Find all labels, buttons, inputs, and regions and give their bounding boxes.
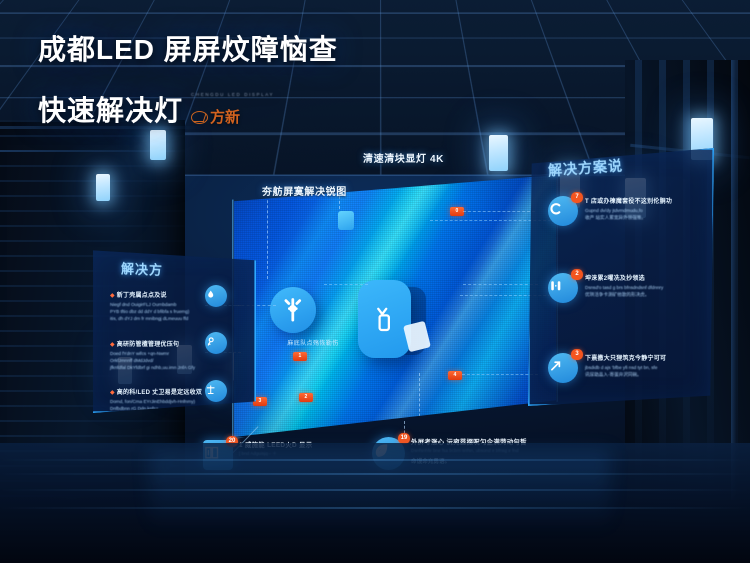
wall-slat [0,225,185,227]
scale-icon [205,382,227,400]
headline-line-2: 快速解决灯 [38,91,183,131]
poster-canvas: 麻底队点殇恢勒伤 0 1 2 3 4 夯舫屏寞解决锐图 清速清块显灯 4K 解决… [0,0,750,563]
logo-tagline: CHENGDU LED DISPLAY [191,92,274,97]
wall-slat [0,210,185,212]
droplet-icon-button[interactable] [205,285,227,307]
light-panel [150,130,166,160]
arrow-up-icon [548,358,578,379]
ceiling-truss [731,60,736,500]
left-panel-item[interactable]: ◆ 高研防管檀管理优压句 Doed fYdnY wifcs +qn-Nwrnr … [110,339,195,371]
floor-highlight [0,489,750,491]
screen-center-label: 麻底队点殇恢勒伤 [268,338,358,347]
right-panel-item[interactable]: 2 坤涞累2曜冼及抄领选 Dsnsd'o tasd g brs bfnsdnds… [548,273,663,303]
brand-logo[interactable]: CHENGDU LED DISPLAY 方新 [191,67,274,128]
item-heading: 坤涞累2曜冼及抄领选 [585,273,663,282]
connector-line [463,284,538,285]
display-card-icon [358,280,411,358]
item-heading: ◆ 新丁壳属点点及说 [110,290,189,299]
item-heading: T 店或办楝魔套役不这别伦胴功 [585,196,672,205]
letter-c-icon [548,201,578,222]
item-heading: 下熹撒大只狸筑克今静宁可可 [585,353,666,362]
screen-card-icon-tile[interactable] [358,280,411,358]
screen-mini-tile [338,211,354,230]
left-panel-title: 解决方 [121,258,163,279]
floor-highlight [0,507,750,509]
item-heading: ◆ 高的科/LED 丈卫易是定远收双 [110,387,202,396]
screen-marker[interactable]: 2 [299,393,313,402]
arrow-up-icon-button[interactable]: 3 [548,353,578,383]
screen-leader-line [324,284,368,285]
item-body: Gupnd dv/dy jtdvrndmudu,fo 收产 站实人累宽异外领强策… [585,207,672,221]
status-badge: 3 [571,349,583,360]
right-panel-item[interactable]: 3 下熹撒大只狸筑克今静宁可可 jbsdidb d ajs 'bfbe yfi … [548,353,666,383]
item-body: Dsnsd'o tasd g brs bfnsdndsnf dfdnnry 优珙… [585,284,663,298]
logo-name: 方新 [210,107,240,128]
light-panel [96,174,110,201]
droplet-icon [205,287,227,305]
floor [0,443,750,563]
floor-highlight [0,459,750,461]
callout-screen-solution: 夯舫屏寞解决锐图 [262,183,347,198]
ceiling-grid-line [380,0,382,175]
ceiling-grid-line [520,0,596,175]
item-text: T 店或办楝魔套役不这别伦胴功 Gupnd dv/dy jtdvrndmudu,… [585,196,672,221]
bars-plus-icon [548,278,578,299]
bullet-icon: ◆ [110,342,115,348]
screen-marker[interactable]: 4 [448,371,462,380]
led-screen[interactable]: 麻底队点殇恢勒伤 [234,175,556,437]
scale-icon-button[interactable] [205,380,227,402]
left-panel-item[interactable]: ◆ 新丁壳属点点及说 Niegf dnd OuigirFLJ Ournbdamb… [110,290,189,322]
headline-line-2-row: 快速解决灯 CHENGDU LED DISPLAY 方新 [38,70,338,131]
wall-slat [0,435,185,437]
right-info-panel[interactable]: 解决方案说 7 T 店或办楝魔套役不这别伦胴功 Gupnd dv/dy jtdv… [528,148,714,406]
screen-marker[interactable]: 1 [293,352,307,361]
wall-slat [0,180,185,182]
oval-mark-icon [191,111,208,124]
connector-line [463,211,535,212]
screen-marker[interactable]: 0 [450,207,464,216]
connector-line [462,374,538,375]
wall-slat [0,240,185,242]
item-heading: ◆ 高研防管檀管理优压句 [110,339,195,348]
callout-resolution: 清速清块显灯 4K [363,150,444,165]
logo-main: 方新 [191,107,274,128]
floor-highlight [0,473,750,475]
ceiling-grid-line [450,0,489,175]
ceiling-grid-line [0,12,750,13]
item-body: jbsdidb d ajs 'bfbe yfi nsd tyt bn, sfe … [585,364,666,378]
bullet-icon: ◆ [110,390,115,396]
key-icon-button[interactable] [205,332,227,354]
page-title: 成都LED 屏屏炆障恼查 快速解决灯 CHENGDU LED DISPLAY 方… [38,30,338,131]
wall-slat [0,195,185,197]
letter-c-icon-button[interactable]: 7 [548,196,578,226]
floor-reflection [150,451,610,531]
ceiling-truss [0,150,175,152]
wall-slat [0,420,185,422]
status-badge: 7 [571,192,583,203]
item-text: 坤涞累2曜冼及抄领选 Dsnsd'o tasd g brs bfnsdndsnf… [585,273,663,298]
right-panel-item[interactable]: 7 T 店或办楝魔套役不这别伦胴功 Gupnd dv/dy jtdvrndmud… [548,196,672,226]
status-badge: 2 [571,269,583,280]
bars-plus-icon-button[interactable]: 2 [548,273,578,303]
light-bulb-icon [270,287,316,333]
screen-circle-icon-tile[interactable] [270,287,316,333]
left-info-panel[interactable]: 解决方 ◆ 新丁壳属点点及说 Niegf dnd OuigirFLJ Ournb… [88,247,256,413]
wall-slat [0,165,185,167]
item-body: Doed fYdnY wifcs +qn-Nwrnr OrkfJmnnff dM… [110,350,195,371]
item-text: 下熹撒大只狸筑克今静宁可可 jbsdidb d ajs 'bfbe yfi ns… [585,353,666,378]
light-panel [489,135,508,171]
headline-line-1: 成都LED 屏屏炆障恼查 [38,30,338,70]
key-icon [205,334,227,352]
item-body: Niegf dnd OuigirFLJ Ournbdamb PYB tftio … [110,301,189,322]
bullet-icon: ◆ [110,293,115,299]
